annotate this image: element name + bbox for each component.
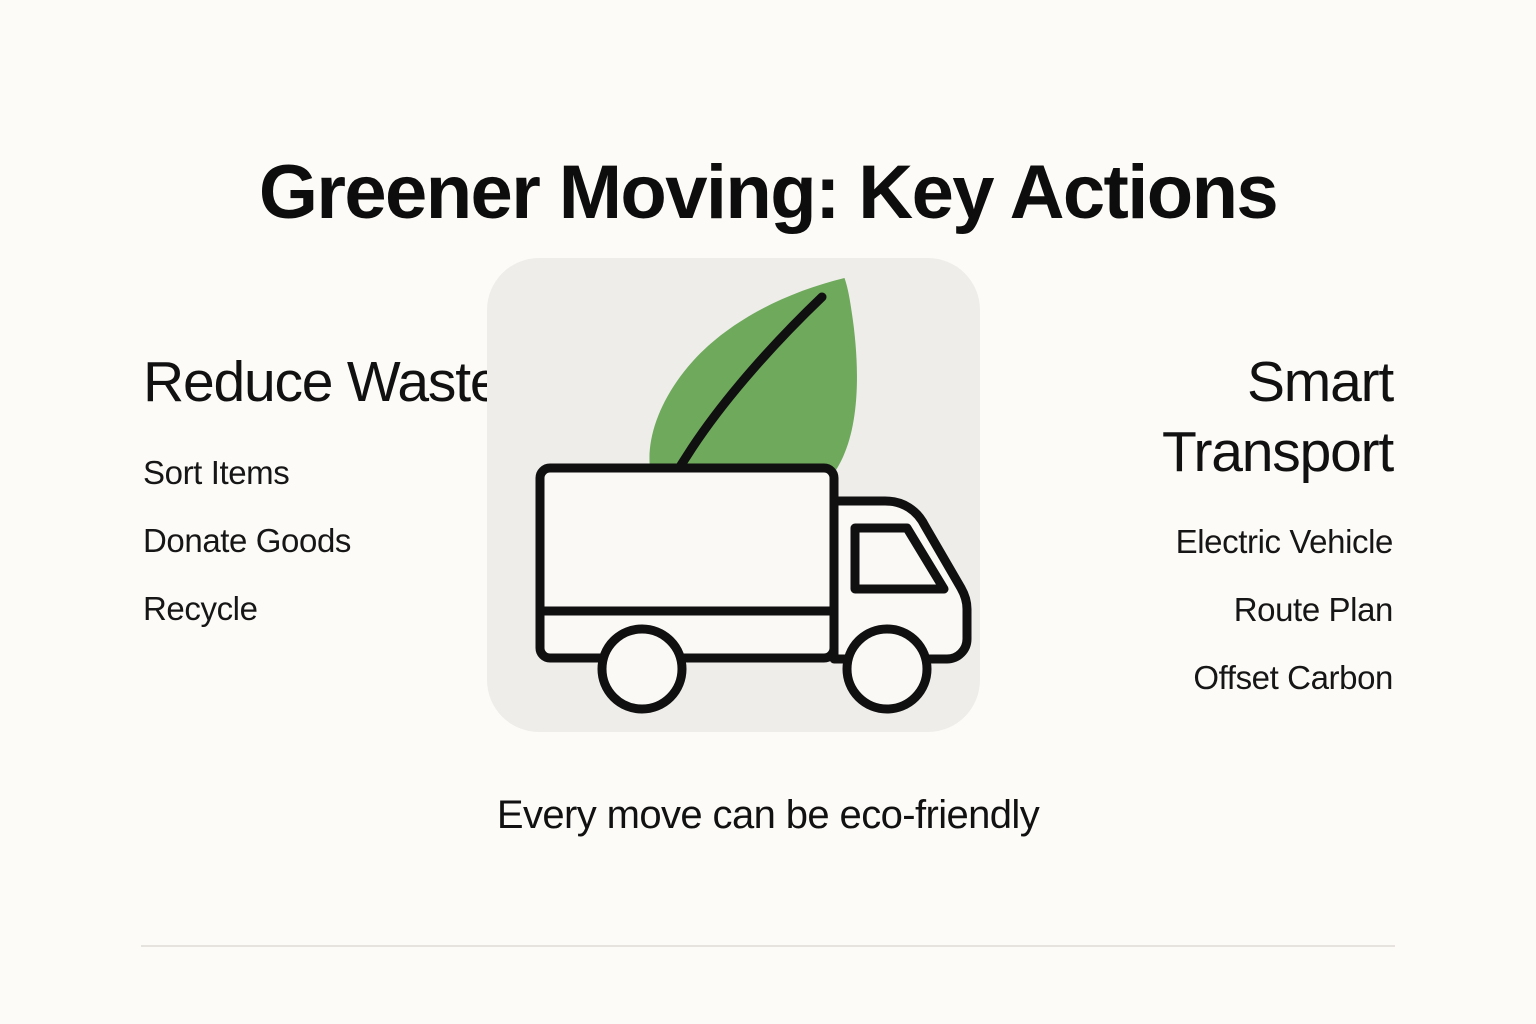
eco-delivery-truck-icon (487, 258, 980, 732)
footer-divider (141, 945, 1395, 947)
poster-canvas: Greener Moving: Key Actions Reduce Waste… (0, 0, 1536, 1024)
list-item: Route Plan (1033, 593, 1393, 626)
truck-cargo-box (540, 468, 834, 658)
page-caption: Every move can be eco-friendly (0, 795, 1536, 835)
column-left-list: Sort Items Donate Goods Recycle (143, 456, 503, 625)
list-item: Offset Carbon (1033, 661, 1393, 694)
page-title: Greener Moving: Key Actions (0, 155, 1536, 231)
column-right-heading: Smart Transport (1033, 348, 1393, 487)
list-item: Sort Items (143, 456, 503, 489)
column-smart-transport: Smart Transport Electric Vehicle Route P… (1033, 348, 1393, 694)
column-right-list: Electric Vehicle Route Plan Offset Carbo… (1033, 525, 1393, 694)
illustration-tile (487, 258, 980, 732)
list-item: Electric Vehicle (1033, 525, 1393, 558)
truck-front-wheel (847, 629, 927, 709)
column-reduce-waste: Reduce Waste Sort Items Donate Goods Rec… (143, 348, 503, 625)
truck-rear-wheel (602, 629, 682, 709)
list-item: Recycle (143, 592, 503, 625)
list-item: Donate Goods (143, 524, 503, 557)
column-left-heading: Reduce Waste (143, 348, 503, 418)
